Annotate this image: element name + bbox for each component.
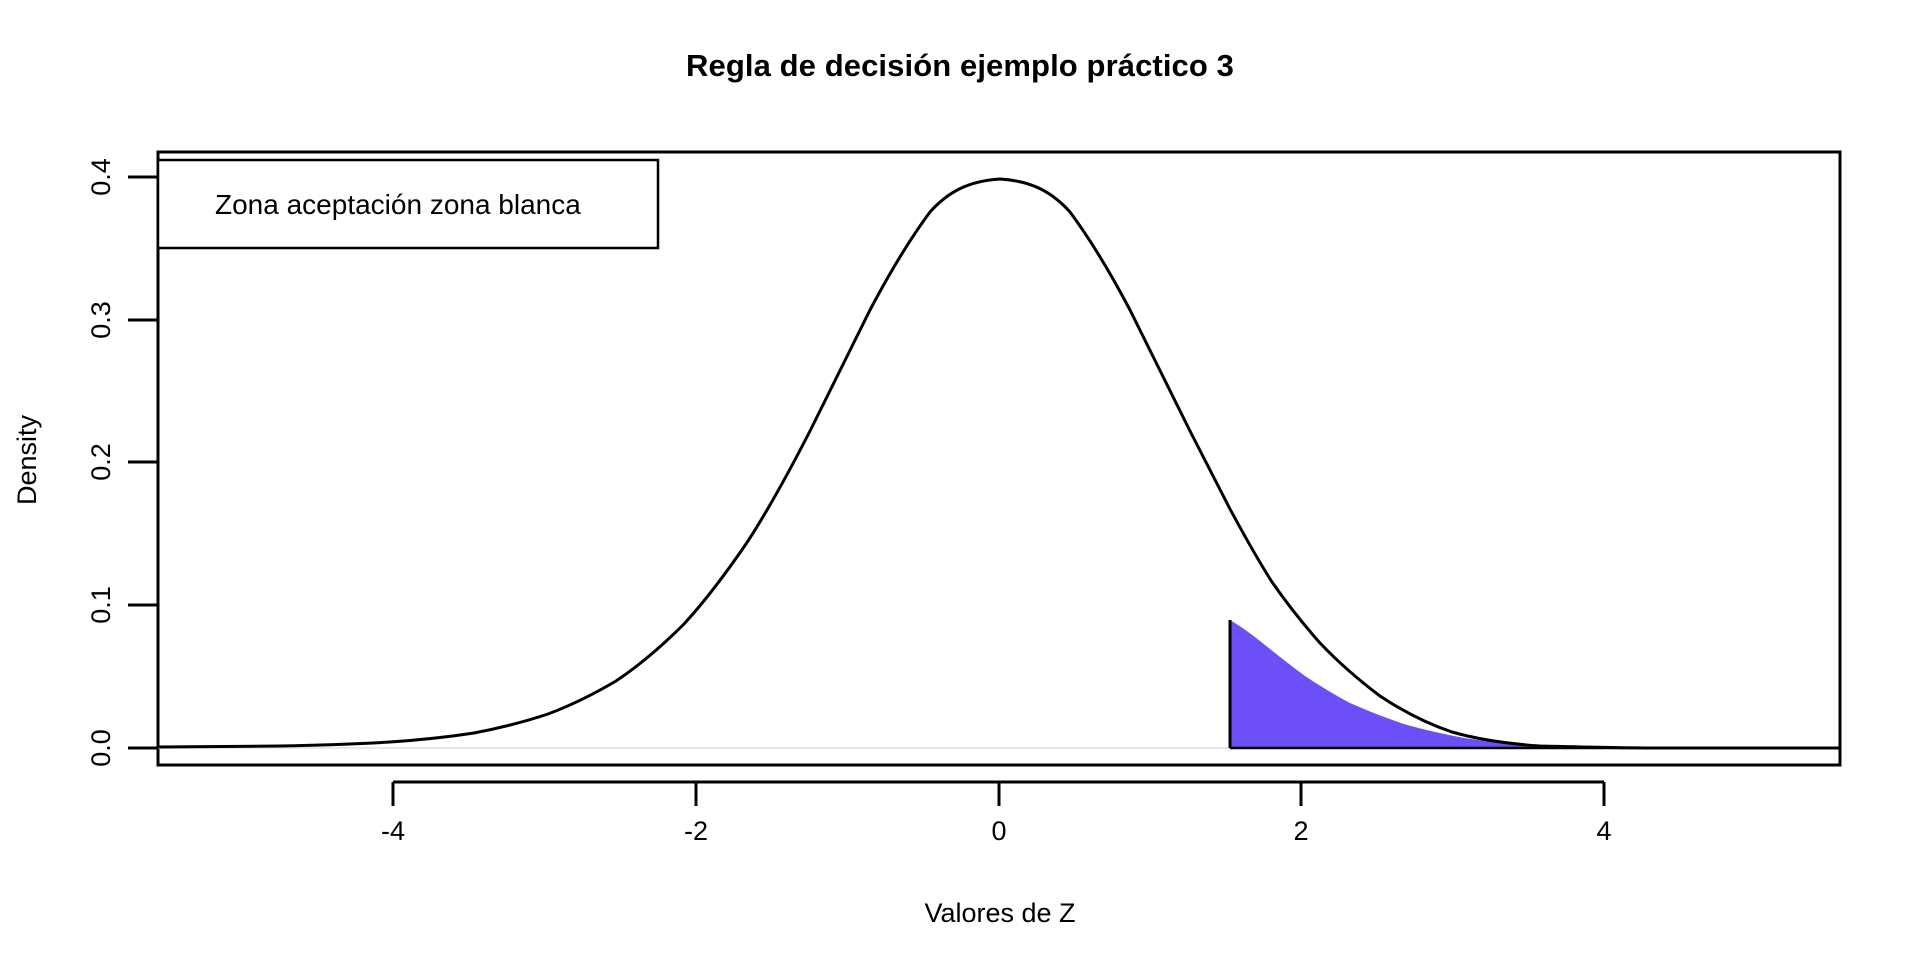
- chart-page: Regla de decisión ejemplo práctico 3 0.0…: [0, 0, 1920, 960]
- x-axis-ticks: [393, 782, 1604, 806]
- y-tick-label-2: 0.2: [86, 443, 116, 481]
- x-tick-label-0: -4: [381, 816, 405, 846]
- density-plot: 0.0 0.1 0.2 0.3 0.4 Density -4 -2 0 2 4 …: [0, 0, 1920, 960]
- legend-label: Zona aceptación zona blanca: [215, 189, 581, 220]
- x-tick-label-4: 4: [1596, 816, 1611, 846]
- x-tick-label-2: 0: [991, 816, 1006, 846]
- y-axis-ticks: [128, 177, 158, 748]
- y-tick-label-1: 0.1: [86, 586, 116, 624]
- x-tick-label-1: -2: [684, 816, 708, 846]
- x-tick-label-3: 2: [1293, 816, 1308, 846]
- y-tick-label-3: 0.3: [86, 301, 116, 339]
- y-tick-label-0: 0.0: [86, 729, 116, 767]
- y-axis-title: Density: [12, 414, 42, 505]
- y-tick-label-4: 0.4: [86, 158, 116, 196]
- x-axis-title: Valores de Z: [924, 898, 1075, 928]
